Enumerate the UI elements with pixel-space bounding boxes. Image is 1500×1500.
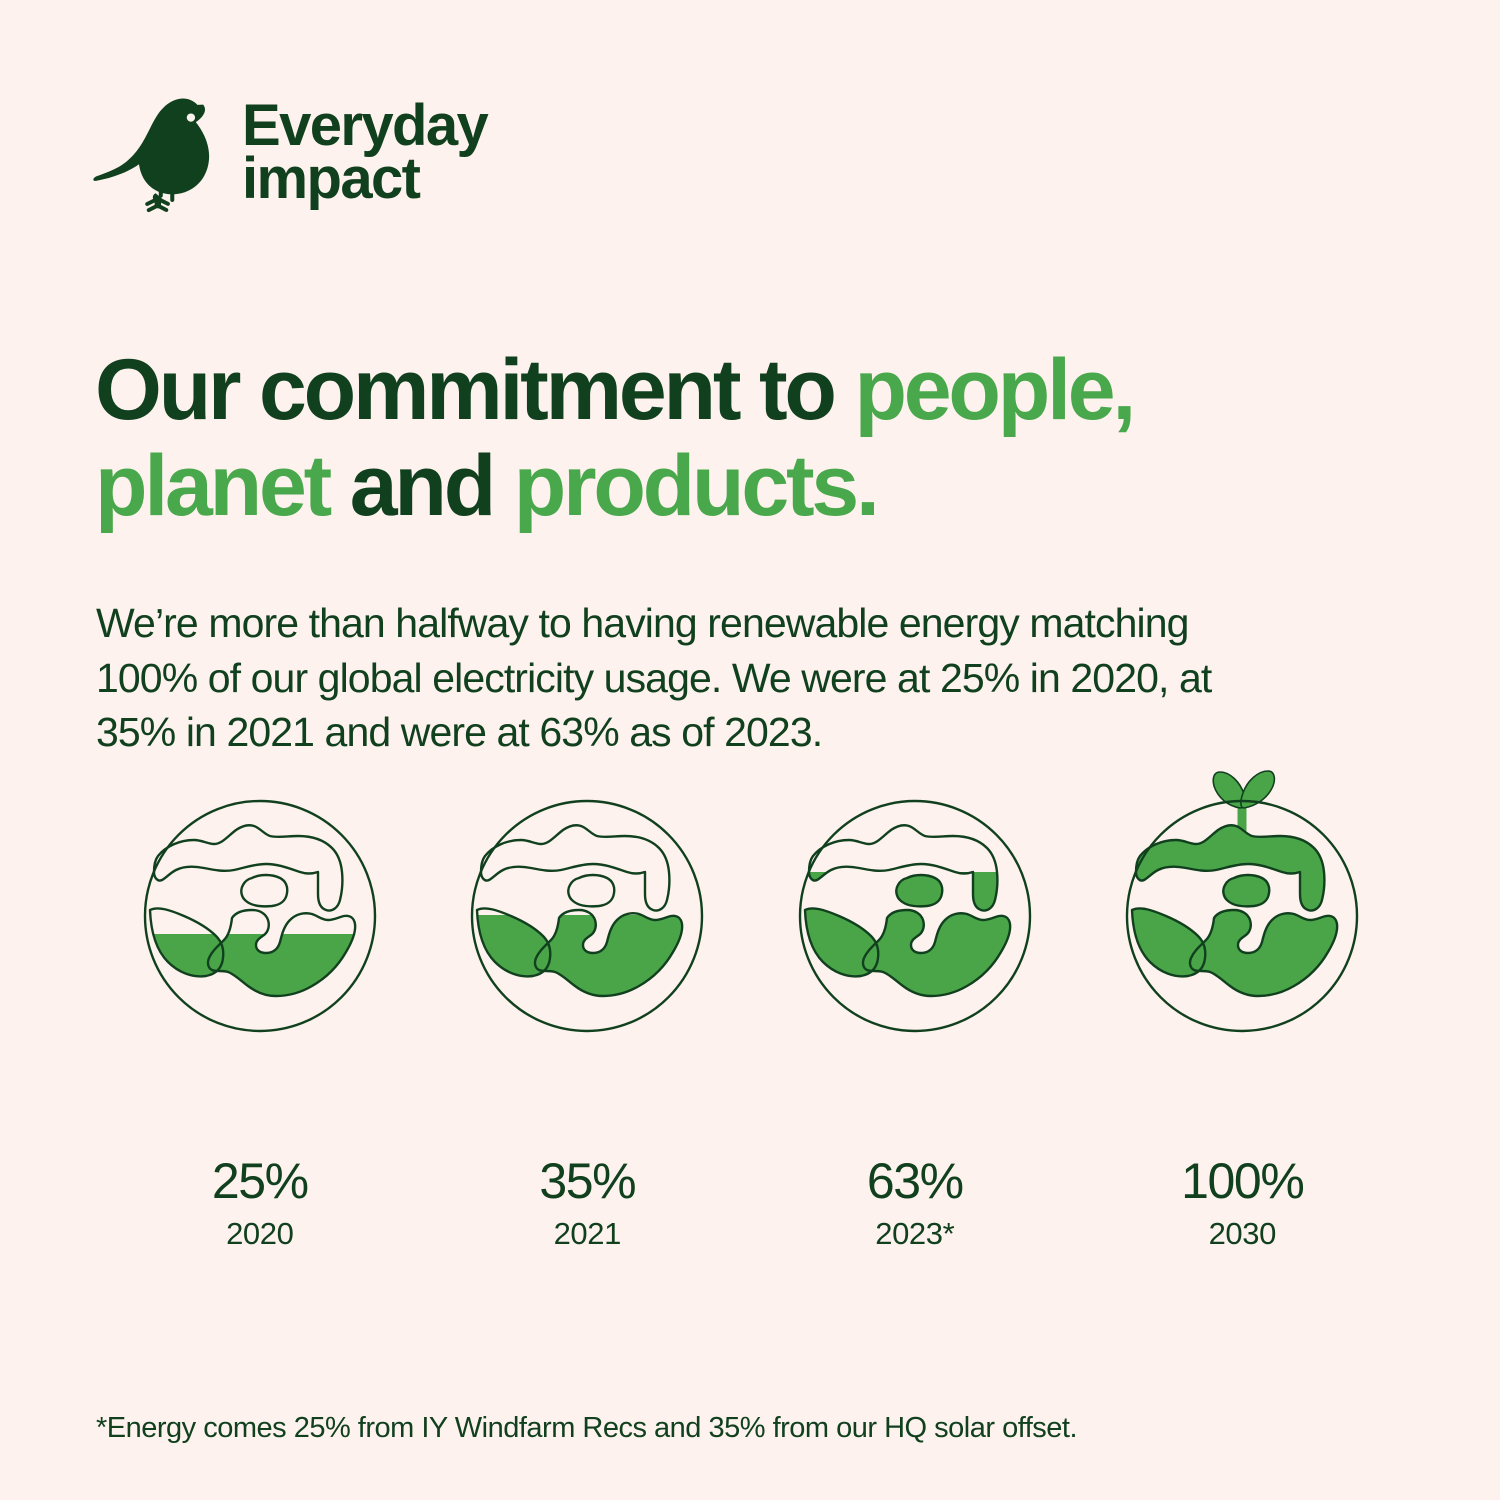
globe-percent-label: 63% bbox=[867, 1156, 963, 1206]
chart-item-2020: 25% 2020 bbox=[96, 760, 424, 1249]
globe-art-2021 bbox=[463, 760, 711, 1100]
footnote: *Energy comes 25% from IY Windfarm Recs … bbox=[96, 1412, 1396, 1445]
intro-paragraph: We’re more than halfway to having renewa… bbox=[96, 596, 1246, 760]
globe-25-percent-icon bbox=[136, 760, 384, 1100]
globe-art-2020 bbox=[136, 760, 384, 1100]
globe-percent-label: 25% bbox=[212, 1156, 308, 1206]
headline-part-and: and bbox=[329, 438, 514, 534]
chart-item-2021: 35% 2021 bbox=[424, 760, 752, 1249]
bird-icon bbox=[92, 88, 218, 214]
headline-part-products: products. bbox=[514, 438, 877, 534]
globe-art-2030 bbox=[1118, 760, 1366, 1100]
logo-wordmark: Everyday impact bbox=[242, 99, 487, 206]
globe-year-label: 2023* bbox=[875, 1218, 954, 1249]
headline-part-1: Our commitment to bbox=[95, 342, 854, 438]
brand-logo: Everyday impact bbox=[92, 88, 487, 214]
globe-percent-label: 100% bbox=[1181, 1156, 1303, 1206]
globe-year-label: 2030 bbox=[1209, 1218, 1276, 1249]
globe-63-percent-icon bbox=[791, 760, 1039, 1100]
headline-part-planet: planet bbox=[95, 438, 329, 534]
renewable-energy-chart: 25% 2020 bbox=[96, 760, 1406, 1249]
globe-year-label: 2021 bbox=[554, 1218, 621, 1249]
globe-year-label: 2020 bbox=[226, 1218, 293, 1249]
headline-part-people: people, bbox=[854, 342, 1133, 438]
chart-item-2030: 100% 2030 bbox=[1079, 760, 1407, 1249]
globe-percent-label: 35% bbox=[539, 1156, 635, 1206]
globe-art-2023 bbox=[791, 760, 1039, 1100]
globe-35-percent-icon bbox=[463, 760, 711, 1100]
chart-item-2023: 63% 2023* bbox=[751, 760, 1079, 1249]
page-title: Our commitment to people,planet and prod… bbox=[95, 342, 1415, 535]
globe-100-percent-sprout-icon bbox=[1118, 760, 1366, 1100]
